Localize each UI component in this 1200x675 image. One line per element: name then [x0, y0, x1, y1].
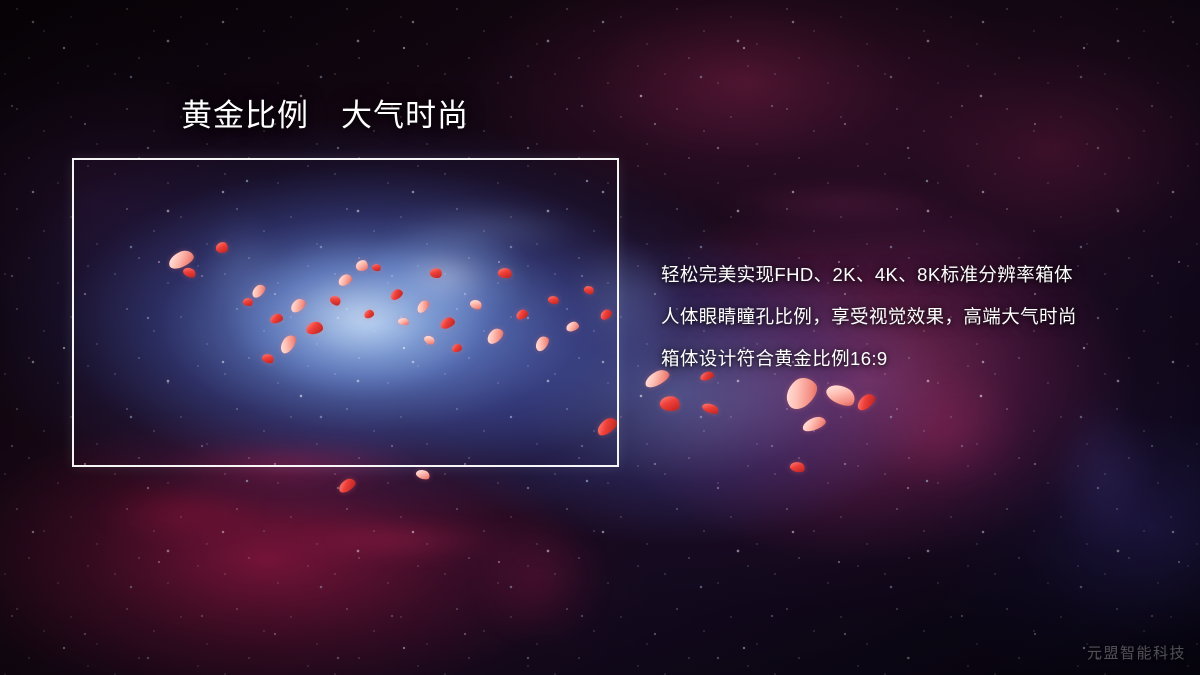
petal	[415, 298, 431, 314]
petal	[336, 476, 357, 495]
preview-frame	[72, 158, 619, 467]
watermark: 元盟智能科技	[1087, 642, 1186, 663]
petal	[469, 298, 484, 312]
petal	[261, 352, 276, 365]
petal	[397, 317, 409, 326]
petal	[371, 263, 382, 273]
petal	[824, 380, 859, 410]
body-line-2: 人体眼睛瞳孔比例，享受视觉效果，高端大气时尚	[661, 296, 1161, 338]
petal	[594, 415, 619, 438]
petal	[415, 468, 431, 482]
petal	[250, 282, 268, 299]
petal	[182, 265, 198, 279]
petal	[363, 309, 375, 319]
petal	[515, 308, 529, 321]
petal	[328, 294, 342, 308]
petal	[288, 296, 307, 314]
petal	[269, 313, 284, 325]
petal	[583, 284, 596, 296]
body-line-3: 箱体设计符合黄金比例16:9	[661, 338, 1161, 380]
petal	[389, 287, 405, 301]
petal	[484, 326, 506, 347]
frame-petal-field	[72, 158, 619, 467]
petal	[277, 332, 299, 355]
petal	[242, 297, 254, 308]
petal	[854, 391, 877, 412]
petal	[337, 273, 354, 288]
petal	[305, 321, 324, 335]
petal	[451, 343, 462, 353]
petal	[497, 266, 513, 279]
petal	[423, 334, 437, 347]
petal	[565, 320, 580, 332]
slide-canvas: 黄金比例 大气时尚 轻松完美实现FHD、2K、4K、8K标准分辨率箱体 人体眼睛…	[0, 0, 1200, 675]
petal	[547, 294, 560, 305]
petal	[789, 460, 806, 474]
petal	[533, 334, 552, 353]
petal	[215, 241, 229, 254]
petal	[659, 394, 682, 413]
petal	[439, 316, 457, 331]
body-copy: 轻松完美实现FHD、2K、4K、8K标准分辨率箱体 人体眼睛瞳孔比例，享受视觉效…	[661, 254, 1161, 380]
petal	[801, 415, 828, 434]
body-line-1: 轻松完美实现FHD、2K、4K、8K标准分辨率箱体	[661, 254, 1161, 296]
petal	[356, 259, 369, 271]
page-title: 黄金比例 大气时尚	[181, 98, 469, 135]
petal	[701, 401, 720, 416]
petal	[429, 266, 444, 279]
petal	[599, 308, 614, 322]
